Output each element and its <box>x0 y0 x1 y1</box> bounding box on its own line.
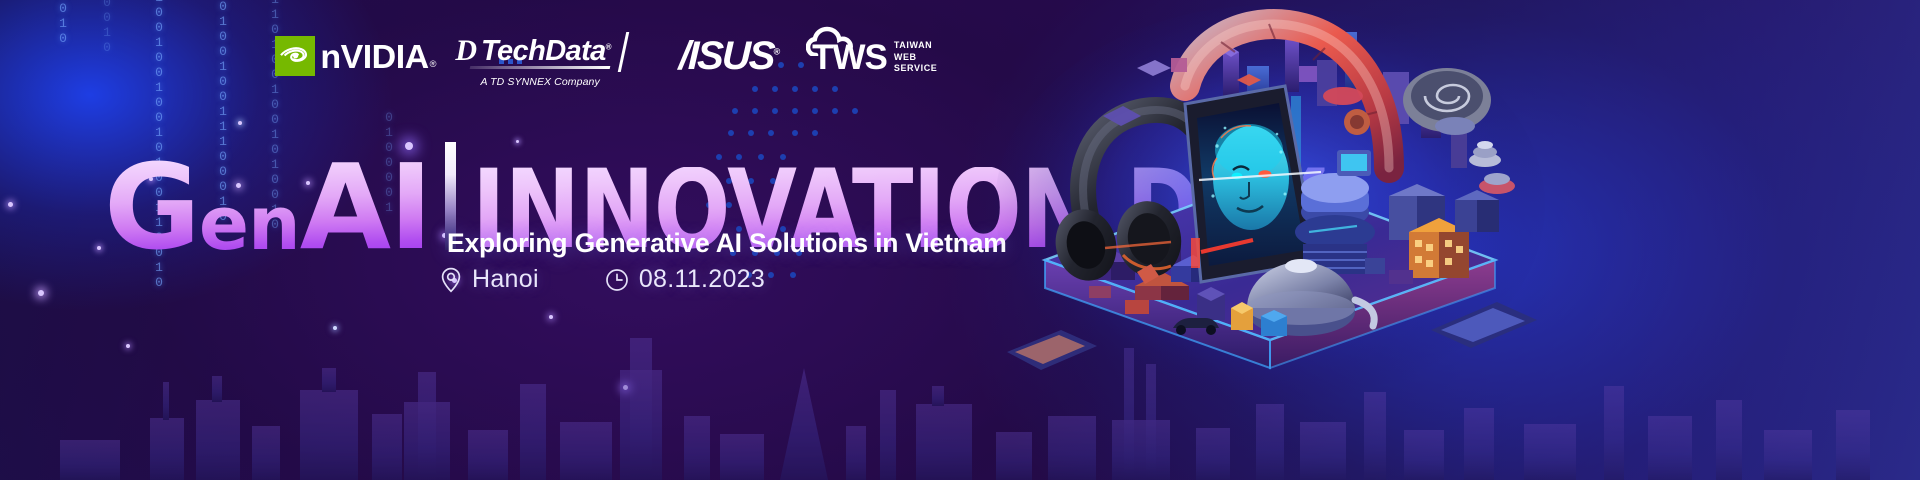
techdata-slash-accent <box>618 32 630 72</box>
cloud-icon <box>806 26 864 56</box>
asus-wordmark: /ISUS® <box>678 36 779 76</box>
tws-sublines: TAIWAN WEB SERVICE <box>894 40 938 75</box>
genai-brand: G en AI <box>104 160 431 254</box>
genai-en: en <box>199 195 300 254</box>
city-skyline <box>0 330 1920 480</box>
nvidia-logo: nVIDIA® <box>275 36 433 76</box>
techdata-d-mark: D <box>455 36 477 66</box>
location-pin-icon <box>440 267 462 293</box>
techdata-logo: D TechData® A TD SYNNEX Company <box>455 36 625 88</box>
event-location: Hanoi <box>440 265 539 294</box>
techdata-underline <box>470 66 611 69</box>
techdata-tagline: A TD SYNNEX Company <box>480 76 599 88</box>
techdata-wordmark: TechData® <box>481 37 611 66</box>
subtitle: Exploring Generative AI Solutions in Vie… <box>447 228 1007 259</box>
genai-illustration <box>985 0 1545 400</box>
partner-logos-row: nVIDIA® D TechData® A TD SYNNEX Company … <box>275 36 937 98</box>
techdata-wordmark-group: D TechData® <box>455 36 625 66</box>
nvidia-wordmark: nVIDIA® <box>320 40 435 73</box>
nvidia-eye-icon <box>275 36 315 76</box>
genai-g: G <box>104 160 199 254</box>
asus-logo: /ISUS® <box>679 36 778 76</box>
event-date-label: 08.11.2023 <box>639 265 765 294</box>
event-meta-row: Hanoi 08.11.2023 <box>440 265 765 294</box>
banner-root: 0010 00010 10010010010100110010 00100100… <box>0 0 1920 480</box>
binary-stream: 00010 <box>100 0 114 55</box>
tws-logo: TWS TAIWAN WEB SERVICE <box>808 36 937 75</box>
binary-stream: 0010 <box>56 0 70 46</box>
event-date: 08.11.2023 <box>605 265 765 294</box>
genai-ai: AI <box>300 160 431 254</box>
event-location-label: Hanoi <box>472 265 539 294</box>
clock-icon <box>605 268 629 292</box>
